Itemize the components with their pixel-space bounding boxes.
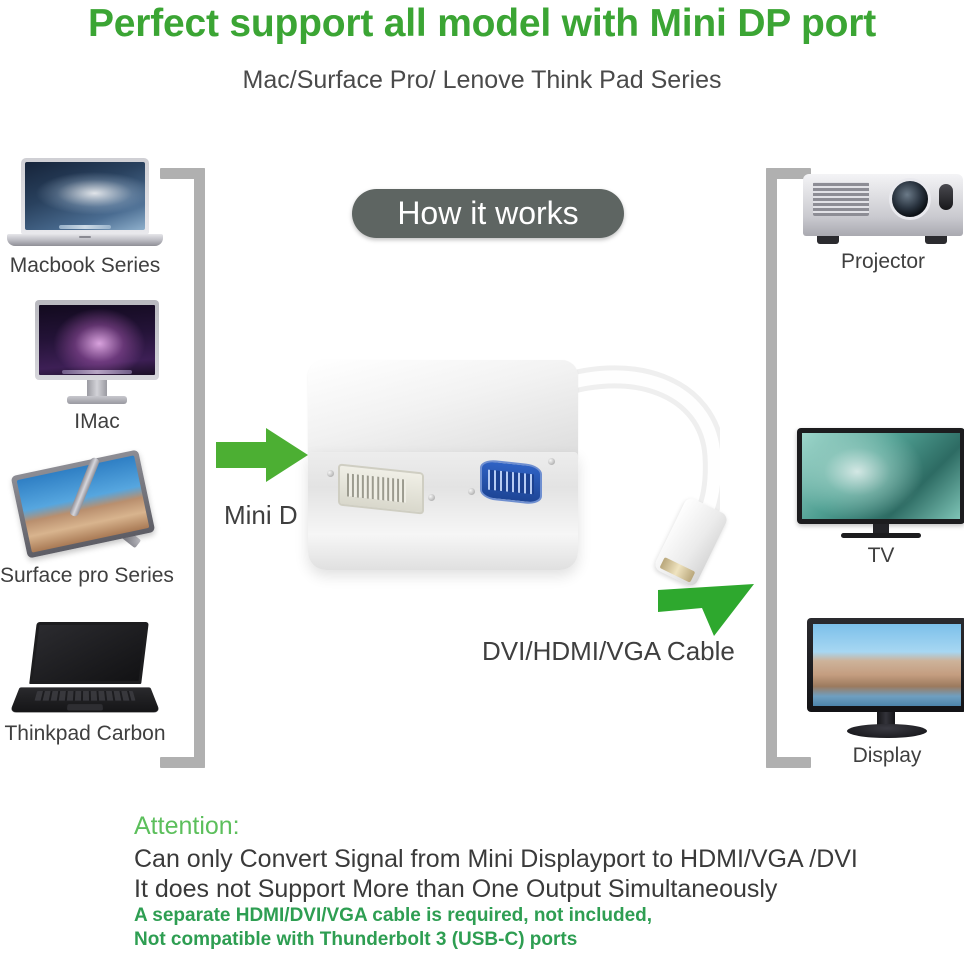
output-connection-label: DVI/HDMI/VGA Cable xyxy=(482,636,735,667)
adapter-top-face xyxy=(308,360,578,460)
source-device-label: Macbook Series xyxy=(0,254,170,278)
attention-line: Can only Convert Signal from Mini Displa… xyxy=(134,845,954,875)
page-subheadline: Mac/Surface Pro/ Lenove Think Pad Series xyxy=(0,66,964,95)
output-device-label: Projector xyxy=(798,250,964,274)
adapter-front-face xyxy=(308,452,578,570)
bracket-bar xyxy=(766,168,777,768)
source-device-thinkpad: Thinkpad Carbon xyxy=(0,622,170,746)
port-screw xyxy=(327,470,334,477)
source-device-imac: IMac xyxy=(12,300,182,434)
vga-port xyxy=(480,459,542,506)
macbook-laptop-icon xyxy=(7,158,163,250)
dvi-port xyxy=(338,463,424,514)
attention-note: Not compatible with Thunderbolt 3 (USB-C… xyxy=(134,928,954,952)
output-device-tv: TV xyxy=(796,428,964,568)
port-screw xyxy=(468,488,475,495)
television-icon xyxy=(797,428,964,540)
bracket-cap-bottom xyxy=(160,757,205,768)
source-device-macbook: Macbook Series xyxy=(0,158,170,278)
source-device-label: Surface pro Series xyxy=(0,564,170,588)
monitor-icon xyxy=(807,618,964,740)
projector-icon xyxy=(803,168,963,246)
output-device-projector: Projector xyxy=(798,168,964,274)
port-screw xyxy=(428,494,435,501)
surface-tablet-icon xyxy=(10,452,160,560)
source-device-label: IMac xyxy=(12,410,182,434)
output-arrow-icon xyxy=(658,582,754,636)
how-it-works-label: How it works xyxy=(397,195,578,232)
source-device-surface-pro: Surface pro Series xyxy=(0,452,170,588)
page-headline: Perfect support all model with Mini DP p… xyxy=(0,2,964,46)
bracket-bar xyxy=(194,168,205,768)
port-screw xyxy=(548,458,555,465)
attention-block: Attention: Can only Convert Signal from … xyxy=(134,812,954,952)
input-arrow-icon xyxy=(216,424,308,486)
output-device-label: Display xyxy=(802,744,964,768)
attention-note: A separate HDMI/DVI/VGA cable is require… xyxy=(134,904,954,928)
output-device-display: Display xyxy=(802,618,964,768)
attention-line: It does not Support More than One Output… xyxy=(134,875,954,905)
thinkpad-laptop-icon xyxy=(7,622,163,718)
imac-desktop-icon xyxy=(31,300,163,406)
how-it-works-badge: How it works xyxy=(352,189,624,238)
source-device-label: Thinkpad Carbon xyxy=(0,722,170,746)
attention-title: Attention: xyxy=(134,812,954,841)
output-device-label: TV xyxy=(796,544,964,568)
input-connection-label: Mini D xyxy=(224,500,298,531)
mini-displayport-adapter-image xyxy=(300,352,720,632)
